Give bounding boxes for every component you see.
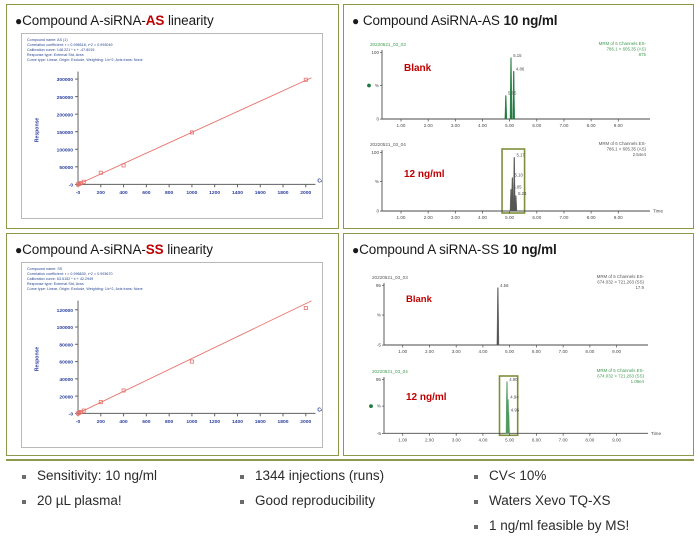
x-tick-label: 1600 (255, 190, 266, 196)
mrm-annotation: 786.1 > 605.35 (AS) (607, 46, 647, 51)
x-tick-label: 1800 (278, 190, 289, 196)
sample-id-label: 20220521_03_04 (370, 142, 406, 147)
title-bold: 10 ng/ml (503, 242, 557, 257)
x-axis-tick: 9.00 (612, 437, 621, 442)
x-axis-tick: 5.00 (505, 215, 514, 220)
x-axis-tick: 4.00 (478, 215, 487, 220)
summary-column-1: Sensitivity: 10 ng/ml20 µL plasma! (22, 468, 237, 518)
x-axis-tick: 1.00 (397, 215, 406, 220)
mrm-annotation: 875 (639, 52, 647, 57)
y-axis-tick: -5 (377, 343, 382, 348)
panel-title-as-linearity: ●Compound A-siRNA-AS linearity (15, 13, 214, 28)
x-axis-tick: 2.00 (424, 215, 433, 220)
blank-label: Blank (406, 294, 433, 305)
bullet-square-icon (240, 500, 244, 504)
x-axis-label: Conc (317, 178, 322, 184)
x-tick-label: 1400 (232, 190, 243, 196)
y-axis-tick: 0 (376, 209, 379, 214)
peak-label: 4.90 (509, 377, 518, 382)
peak-label: 4.96 (511, 408, 520, 413)
x-axis-tick: 5.00 (505, 349, 514, 354)
x-axis-tick: 6.00 (532, 215, 541, 220)
x-axis-tick: 7.00 (559, 437, 568, 442)
y-tick-label: 100000 (57, 147, 74, 153)
x-axis-tick: 7.00 (559, 215, 568, 220)
panel-ss-linearity: ●Compound A-siRNA-SS linearity Compound … (6, 233, 339, 456)
peak-label: 5.05 (513, 184, 522, 189)
summary-bullet-text: Waters Xevo TQ-XS (489, 493, 611, 509)
title-suffix: linearity (164, 242, 213, 257)
peak-label: 4.94 (510, 395, 519, 400)
y-axis-tick: 0 (376, 117, 379, 122)
y-axis-label: Response (34, 347, 40, 372)
x-axis-tick: 9.00 (614, 123, 623, 128)
chromatogram-peak (505, 95, 507, 119)
bullet-square-icon (240, 475, 244, 479)
title-highlight: AS (146, 13, 165, 28)
y-axis-tick: % (377, 404, 381, 409)
x-axis-tick: 5.00 (505, 123, 514, 128)
title-suffix: linearity (164, 13, 213, 28)
x-axis-tick: 3.00 (452, 349, 461, 354)
bullet-square-icon (474, 525, 478, 529)
x-axis-tick: 8.00 (585, 437, 594, 442)
x-tick-label: 200 (97, 419, 105, 425)
data-point (190, 360, 193, 363)
title-highlight: SS (146, 242, 164, 257)
mrm-annotation: MRM of 6 Channels ES- (599, 41, 647, 46)
peak-label: 4.86 (516, 66, 525, 71)
chart-ss-linearity: -020000400006000080000100000120000-02004… (22, 263, 322, 447)
blank-label: Blank (404, 63, 432, 74)
mrm-annotation: 674.032 > 721.263 (SS) (597, 373, 644, 378)
y-tick-label: 250000 (57, 95, 74, 101)
section-divider (6, 459, 694, 461)
x-axis-tick: 9.00 (612, 349, 621, 354)
bullet-square-icon (474, 475, 478, 479)
summary-bullet-item: Sensitivity: 10 ng/ml (22, 468, 237, 484)
y-axis-tick: % (375, 83, 379, 88)
summary-bullet-text: 1344 injections (runs) (255, 468, 384, 484)
x-tick-label: 600 (142, 419, 150, 425)
summary-bullet-item: Good reproducibility (240, 493, 465, 509)
y-tick-label: 60000 (59, 360, 73, 366)
x-tick-label: 1800 (278, 419, 289, 425)
x-axis-tick: 6.00 (532, 437, 541, 442)
summary-bullet-item: 20 µL plasma! (22, 493, 237, 509)
y-axis-tick: 100 (371, 50, 379, 55)
x-tick-label: 1000 (186, 419, 197, 425)
mrm-annotation: MRM of 6 Channels ES- (599, 141, 647, 146)
summary-bullet-text: Good reproducibility (255, 493, 375, 509)
x-tick-label: -0 (76, 419, 81, 425)
x-axis-tick: 8.00 (585, 349, 594, 354)
y-tick-label: 150000 (57, 130, 74, 136)
x-axis-tick: 2.00 (425, 349, 434, 354)
x-axis-tick: 8.00 (587, 123, 596, 128)
summary-column-2: 1344 injections (runs)Good reproducibili… (240, 468, 465, 518)
y-tick-label: 100000 (57, 325, 74, 331)
bullet-square-icon (22, 500, 26, 504)
y-axis-tick: % (375, 179, 379, 184)
panel-as-chromatogram: ● Compound AsiRNA-AS 10 ng/ml 20220521_0… (343, 4, 694, 229)
x-axis-title: Time (653, 209, 663, 214)
title-prefix: Compound A-siRNA- (22, 242, 146, 257)
chromatogram-peak (497, 287, 499, 345)
panel-ss-chromatogram: ●Compound A siRNA-SS 10 ng/ml 20220521_0… (343, 233, 694, 456)
slide-root: ●Compound A-siRNA-AS linearity Compound … (0, 0, 700, 554)
x-axis-tick: 3.00 (451, 215, 460, 220)
y-axis-label: Response (34, 118, 40, 143)
y-tick-label: 40000 (59, 377, 73, 383)
x-axis-tick: 2.00 (425, 437, 434, 442)
data-point (304, 306, 307, 309)
x-axis-tick: 1.00 (398, 349, 407, 354)
x-tick-label: 1000 (186, 190, 197, 196)
x-tick-label: 800 (165, 419, 173, 425)
chart-as-chromatogram: 20220521_03_03MRM of 6 Channels ES-786.1… (350, 31, 690, 223)
y-tick-label: -0 (69, 183, 74, 189)
summary-bullet-text: 20 µL plasma! (37, 493, 122, 509)
y-axis-tick: % (377, 313, 381, 318)
panel-as-linearity: ●Compound A-siRNA-AS linearity Compound … (6, 4, 339, 229)
x-axis-tick: 3.00 (451, 123, 460, 128)
summary-bullet-text: Sensitivity: 10 ng/ml (37, 468, 157, 484)
x-tick-label: 600 (142, 190, 150, 196)
bullet-dot-icon: ● (352, 14, 359, 28)
peak-label: 4.56 (500, 283, 509, 288)
chart-as-linearity: -050000100000150000200000250000300000-02… (22, 34, 322, 218)
x-tick-label: -0 (76, 190, 81, 196)
x-axis-tick: 8.00 (587, 215, 596, 220)
x-axis-title: Time (651, 431, 661, 436)
x-axis-tick: 5.00 (505, 437, 514, 442)
y-tick-label: 20000 (59, 394, 73, 400)
x-axis-tick: 3.00 (452, 437, 461, 442)
x-tick-label: 1600 (255, 419, 266, 425)
summary-column-3: CV< 10%Waters Xevo TQ-XS1 ng/ml feasible… (474, 468, 694, 543)
bullet-square-icon (22, 475, 26, 479)
x-tick-label: 200 (97, 190, 105, 196)
peak-label: 5.05 (508, 91, 517, 96)
calibration-card-as: Compound name: AS (1) Correlation coeffi… (21, 33, 323, 219)
x-tick-label: 2000 (300, 190, 311, 196)
panel-grid: ●Compound A-siRNA-AS linearity Compound … (6, 4, 694, 456)
panel-title-ss-chrom: ●Compound A siRNA-SS 10 ng/ml (352, 242, 557, 257)
x-axis-tick: 7.00 (559, 349, 568, 354)
peak-label: 5.10 (515, 173, 524, 178)
x-tick-label: 1200 (209, 419, 220, 425)
y-axis-tick: 95 (376, 377, 382, 382)
calibration-card-ss: Compound name: SS Correlation coefficien… (21, 262, 323, 448)
peak-label: 5.15 (513, 53, 522, 58)
y-tick-label: 200000 (57, 112, 74, 118)
x-axis-tick: 9.00 (614, 215, 623, 220)
summary-bullet-item: 1 ng/ml feasible by MS! (474, 518, 694, 534)
x-axis-tick: 7.00 (559, 123, 568, 128)
concentration-label: 12 ng/ml (404, 169, 445, 180)
y-axis-tick: -5 (377, 431, 382, 436)
chromatogram-peak (513, 71, 515, 119)
y-axis-tick: 95 (376, 283, 382, 288)
x-tick-label: 400 (119, 419, 127, 425)
mrm-annotation: MRM of 5 Channels ES- (597, 274, 645, 279)
peak-label: 5.23 (518, 191, 527, 196)
concentration-label: 12 ng/ml (406, 392, 447, 403)
title-prefix: Compound AsiRNA-AS (363, 13, 504, 28)
summary-bullet-item: CV< 10% (474, 468, 694, 484)
summary-bullet-item: 1344 injections (runs) (240, 468, 465, 484)
title-prefix: Compound A-siRNA- (22, 13, 146, 28)
summary-section: Sensitivity: 10 ng/ml20 µL plasma! 1344 … (0, 468, 700, 554)
sample-id-label: 20220521_03_03 (370, 42, 406, 47)
mrm-annotation: MRM of 5 Channels ES- (597, 368, 645, 373)
peak-label: 5.17 (516, 152, 525, 157)
x-axis-tick: 4.00 (478, 349, 487, 354)
x-axis-tick: 2.00 (424, 123, 433, 128)
y-tick-label: 300000 (57, 77, 74, 83)
sample-id-label: 20220521_03_04 (372, 369, 408, 374)
sample-id-label: 20220521_03_03 (372, 275, 408, 280)
x-tick-label: 1400 (232, 419, 243, 425)
y-tick-label: 80000 (59, 342, 73, 348)
x-axis-tick: 1.00 (397, 123, 406, 128)
summary-bullet-text: CV< 10% (489, 468, 546, 484)
x-axis-tick: 6.00 (532, 123, 541, 128)
mrm-annotation: 17.9 (635, 285, 644, 290)
y-tick-label: 120000 (57, 308, 74, 314)
x-axis-tick: 6.00 (532, 349, 541, 354)
mrm-annotation: 1.09e4 (631, 379, 645, 384)
x-tick-label: 1200 (209, 190, 220, 196)
status-dot-icon (369, 404, 373, 408)
status-dot-icon (367, 84, 371, 88)
title-bold: 10 ng/ml (503, 13, 557, 28)
summary-bullet-text: 1 ng/ml feasible by MS! (489, 518, 629, 534)
y-tick-label: 50000 (59, 165, 73, 171)
x-tick-label: 800 (165, 190, 173, 196)
title-prefix: Compound A siRNA-SS (359, 242, 503, 257)
panel-title-as-chrom: ● Compound AsiRNA-AS 10 ng/ml (352, 13, 557, 28)
x-axis-tick: 4.00 (478, 437, 487, 442)
mrm-annotation: 674.032 > 721.263 (SS) (597, 279, 644, 284)
bullet-square-icon (474, 500, 478, 504)
x-axis-label: Conc (317, 407, 322, 413)
mrm-annotation: 786.1 > 605.35 (AS) (607, 146, 647, 151)
x-axis-tick: 4.00 (478, 123, 487, 128)
summary-bullet-item: Waters Xevo TQ-XS (474, 493, 694, 509)
chart-ss-chromatogram: 20220521_03_03MRM of 5 Channels ES-674.0… (350, 264, 690, 450)
y-tick-label: -0 (69, 412, 74, 418)
y-axis-tick: 100 (371, 150, 379, 155)
x-axis-tick: 1.00 (398, 437, 407, 442)
panel-title-ss-linearity: ●Compound A-siRNA-SS linearity (15, 242, 213, 257)
mrm-annotation: 2.54e4 (633, 152, 647, 157)
chromatogram-peak (510, 57, 512, 119)
x-tick-label: 400 (119, 190, 127, 196)
x-tick-label: 2000 (300, 419, 311, 425)
